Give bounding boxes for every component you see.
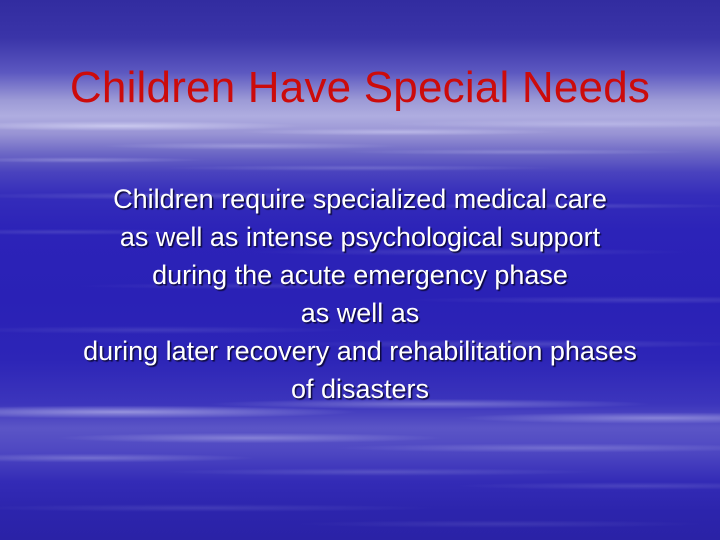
presentation-slide: Children Have Special Needs Children req… [0,0,720,540]
slide-body: Children require specialized medical car… [0,180,720,408]
body-line: Children require specialized medical car… [0,180,720,218]
body-line: during later recovery and rehabilitation… [0,332,720,370]
body-line: during the acute emergency phase [0,256,720,294]
slide-title: Children Have Special Needs [0,62,720,114]
body-line: as well as intense psychological support [0,218,720,256]
body-line: as well as [0,294,720,332]
body-line: of disasters [0,370,720,408]
